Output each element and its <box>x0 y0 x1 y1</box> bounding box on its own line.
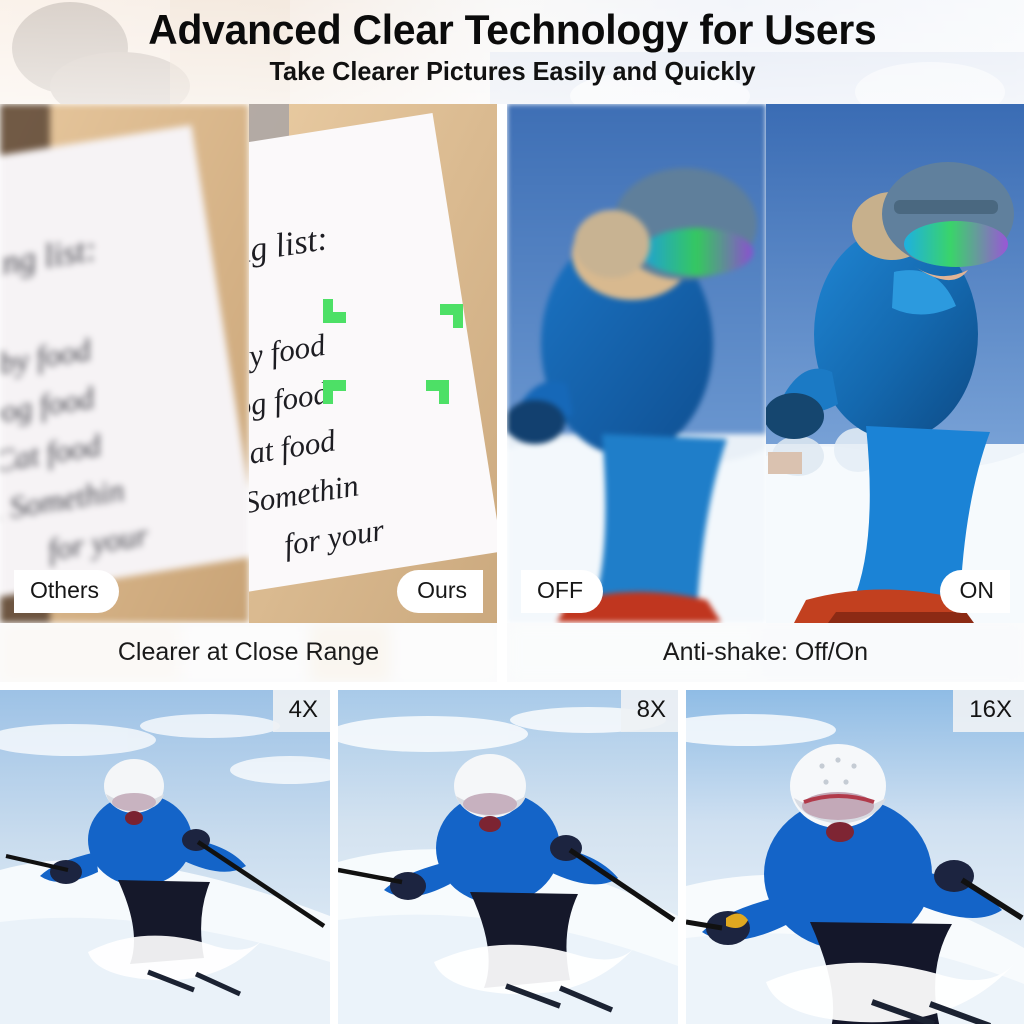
caption-text-close-range: Clearer at Close Range <box>118 638 379 667</box>
product-feature-graphic: Advanced Clear Technology for Users Take… <box>0 0 1024 1024</box>
zoom-strip-divider-1 <box>330 690 338 1024</box>
badge-anti-shake-on: ON <box>940 570 1011 613</box>
zoom-pane-16x: 16X <box>686 690 1024 1024</box>
pane-anti-shake-on: ON <box>766 104 1024 623</box>
caption-close-range: Clearer at Close Range <box>0 623 497 682</box>
badge-anti-shake-off: OFF <box>521 570 603 613</box>
badge-others: Others <box>14 570 119 613</box>
page-title: Advanced Clear Technology for Users <box>148 8 876 52</box>
zoom-pane-4x: 4X <box>0 690 330 1024</box>
zoom-pane-8x: 8X <box>338 690 678 1024</box>
header-banner: Advanced Clear Technology for Users Take… <box>0 0 1024 104</box>
zoom-label-16x: 16X <box>953 690 1024 732</box>
zoom-label-8x: 8X <box>621 690 678 732</box>
anti-shake-comparison: OFF <box>507 104 1024 623</box>
pane-ours: hopping list: 1. Baby food 2. Dog food 3… <box>249 104 498 623</box>
page-subtitle: Take Clearer Pictures Easily and Quickly <box>269 56 755 87</box>
caption-text-anti-shake: Anti-shake: Off/On <box>663 638 868 667</box>
feature-anti-shake: OFF <box>507 104 1024 682</box>
feature-close-range: hopping list: 1. Baby food 2. Dog food 3… <box>0 104 497 682</box>
pane-others: hopping list: 1. Baby food 2. Dog food 3… <box>0 104 249 623</box>
zoom-label-4x: 4X <box>273 690 330 732</box>
close-range-comparison: hopping list: 1. Baby food 2. Dog food 3… <box>0 104 497 623</box>
pane-anti-shake-off: OFF <box>507 104 766 623</box>
zoom-strip-divider-2 <box>678 690 686 1024</box>
badge-ours: Ours <box>397 570 483 613</box>
caption-anti-shake: Anti-shake: Off/On <box>507 623 1024 682</box>
zoom-strip: 4X <box>0 690 1024 1024</box>
feature-row-top: hopping list: 1. Baby food 2. Dog food 3… <box>0 104 1024 682</box>
